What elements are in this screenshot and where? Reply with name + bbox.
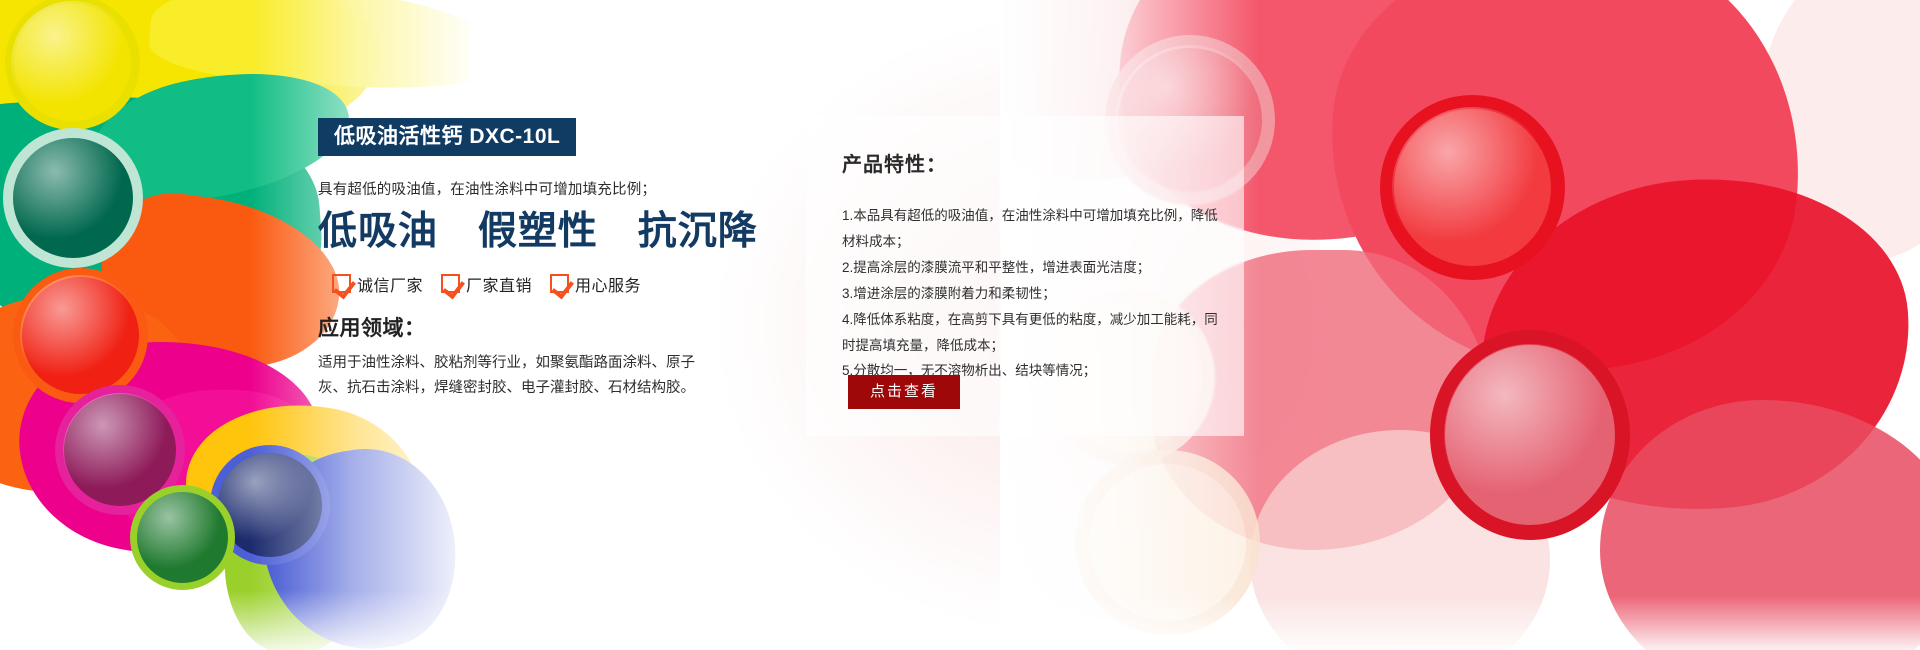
- paint-can-lime-sheen: [137, 492, 228, 583]
- features-list: 1.本品具有超低的吸油值，在油性涂料中可增加填充比例，降低材料成本； 2.提高涂…: [842, 203, 1218, 384]
- headline-word-1: 低吸油: [318, 210, 438, 253]
- product-banner: 低吸油活性钙 DXC-10L 具有超低的吸油值，在油性涂料中可增加填充比例； 低…: [0, 0, 1920, 650]
- paint-can-green-sheen: [13, 138, 133, 258]
- paint-dish-red-3: [1430, 330, 1630, 540]
- product-features-inner: 产品特性： 1.本品具有超低的吸油值，在油性涂料中可增加填充比例，降低材料成本；…: [842, 148, 1224, 384]
- trust-badge-3: 用心服务: [550, 272, 641, 296]
- paint-dish-red-2: [1380, 95, 1565, 280]
- trust-badge-1-label: 诚信厂家: [357, 272, 423, 296]
- trust-badge-2-label: 厂家直销: [466, 272, 532, 296]
- headline-keywords: 低吸油 假塑性 抗沉降: [318, 211, 738, 254]
- feature-item-2: 2.提高涂层的漆膜流平和平整性，增进表面光洁度；: [842, 255, 1218, 281]
- left-copy-block: 低吸油活性钙 DXC-10L 具有超低的吸油值，在油性涂料中可增加填充比例； 低…: [318, 118, 738, 402]
- features-card-title: 产品特性：: [842, 148, 1224, 177]
- feature-item-3: 3.增进涂层的漆膜附着力和柔韧性；: [842, 281, 1218, 307]
- right-artwork-fade-bottom: [1000, 596, 1920, 650]
- application-section-title: 应用领域：: [318, 312, 738, 342]
- paint-dish-red-2-sheen: [1392, 107, 1553, 268]
- check-box-icon: [441, 274, 460, 293]
- trust-badge-1: 诚信厂家: [332, 272, 423, 296]
- application-section-body: 适用于油性涂料、胶粘剂等行业，如聚氨酯路面涂料、原子灰、抗石击涂料，焊缝密封胶、…: [318, 351, 722, 402]
- feature-item-1: 1.本品具有超低的吸油值，在油性涂料中可增加填充比例，降低材料成本；: [842, 203, 1218, 255]
- trust-badges: 诚信厂家 厂家直销 用心服务: [318, 272, 738, 296]
- product-title-bar: 低吸油活性钙 DXC-10L: [318, 118, 576, 156]
- headline-word-2: 假塑性: [478, 210, 598, 253]
- paint-can-red: [13, 268, 148, 403]
- check-box-icon: [332, 274, 351, 293]
- left-artwork-fade-bottom: [0, 590, 470, 650]
- product-subtitle: 具有超低的吸油值，在油性涂料中可增加填充比例；: [318, 178, 738, 199]
- view-details-button[interactable]: 点击查看: [848, 375, 960, 409]
- paint-can-lime: [130, 485, 235, 590]
- paint-dish-red-3-sheen: [1444, 344, 1616, 526]
- paint-can-yellow-sheen: [11, 1, 134, 124]
- trust-badge-3-label: 用心服务: [575, 272, 641, 296]
- check-box-icon: [550, 274, 569, 293]
- headline-word-3: 抗沉降: [638, 210, 758, 253]
- paint-can-green: [3, 128, 143, 268]
- paint-can-yellow: [5, 0, 140, 130]
- feature-item-4: 4.降低体系粘度，在高剪下具有更低的粘度，减少加工能耗，同时提高填充量，降低成本…: [842, 307, 1218, 359]
- trust-badge-2: 厂家直销: [441, 272, 532, 296]
- paint-can-red-sheen: [20, 275, 141, 396]
